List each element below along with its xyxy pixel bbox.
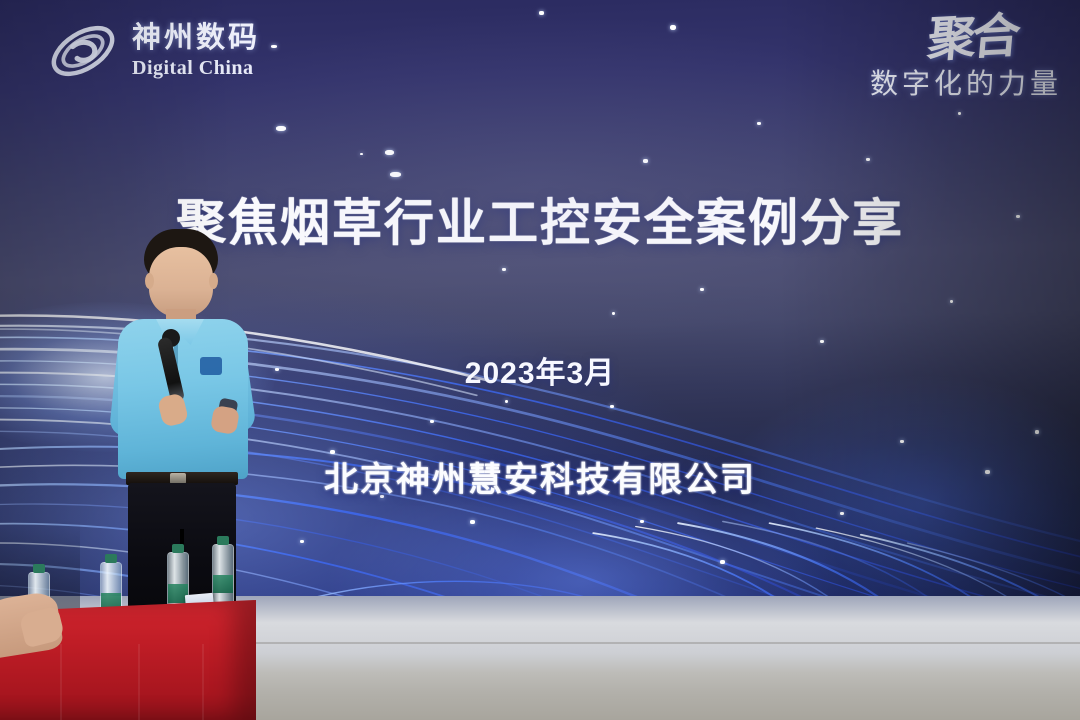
particle-dot xyxy=(360,153,363,155)
particle-dot xyxy=(390,172,401,177)
digital-china-en-name: Digital China xyxy=(132,58,260,78)
speaker-ear-left xyxy=(145,273,154,289)
particle-dot xyxy=(958,112,961,115)
bottle-cap xyxy=(105,554,117,563)
particle-dot xyxy=(670,25,676,30)
event-logo-brush-text: 聚合 xyxy=(926,14,1018,63)
tablecloth-fold xyxy=(138,644,140,720)
particle-dot xyxy=(271,45,277,48)
particle-dot xyxy=(276,126,286,131)
particle-dot xyxy=(643,159,648,163)
water-bottle xyxy=(212,544,234,608)
tablecloth-fold xyxy=(60,644,62,720)
particle-dot xyxy=(385,150,394,155)
event-logo-subtitle: 数字化的力量 xyxy=(870,62,1062,102)
digital-china-logo: 神州数码 Digital China xyxy=(46,20,260,82)
bottle-cap xyxy=(172,544,184,553)
digital-china-cn-name: 神州数码 xyxy=(132,24,260,53)
speaker-shirt-logo xyxy=(200,357,222,375)
particle-dot xyxy=(502,268,506,271)
digital-china-swirl-logo-icon xyxy=(46,20,120,82)
speaker-ear-right xyxy=(209,273,218,289)
speaker-face xyxy=(149,247,213,317)
particle-dot xyxy=(757,122,761,125)
bottle-cap xyxy=(33,564,45,573)
tablecloth-fold xyxy=(202,644,204,720)
event-logo: 聚合 数字化的力量 xyxy=(870,16,1062,102)
conference-photo: 神州数码 Digital China 聚合 数字化的力量 聚焦烟草行业工控安全案… xyxy=(0,0,1080,720)
particle-dot xyxy=(866,158,870,161)
particle-dot xyxy=(539,11,544,15)
bottle-cap xyxy=(217,536,229,545)
bottle-label xyxy=(213,575,233,594)
